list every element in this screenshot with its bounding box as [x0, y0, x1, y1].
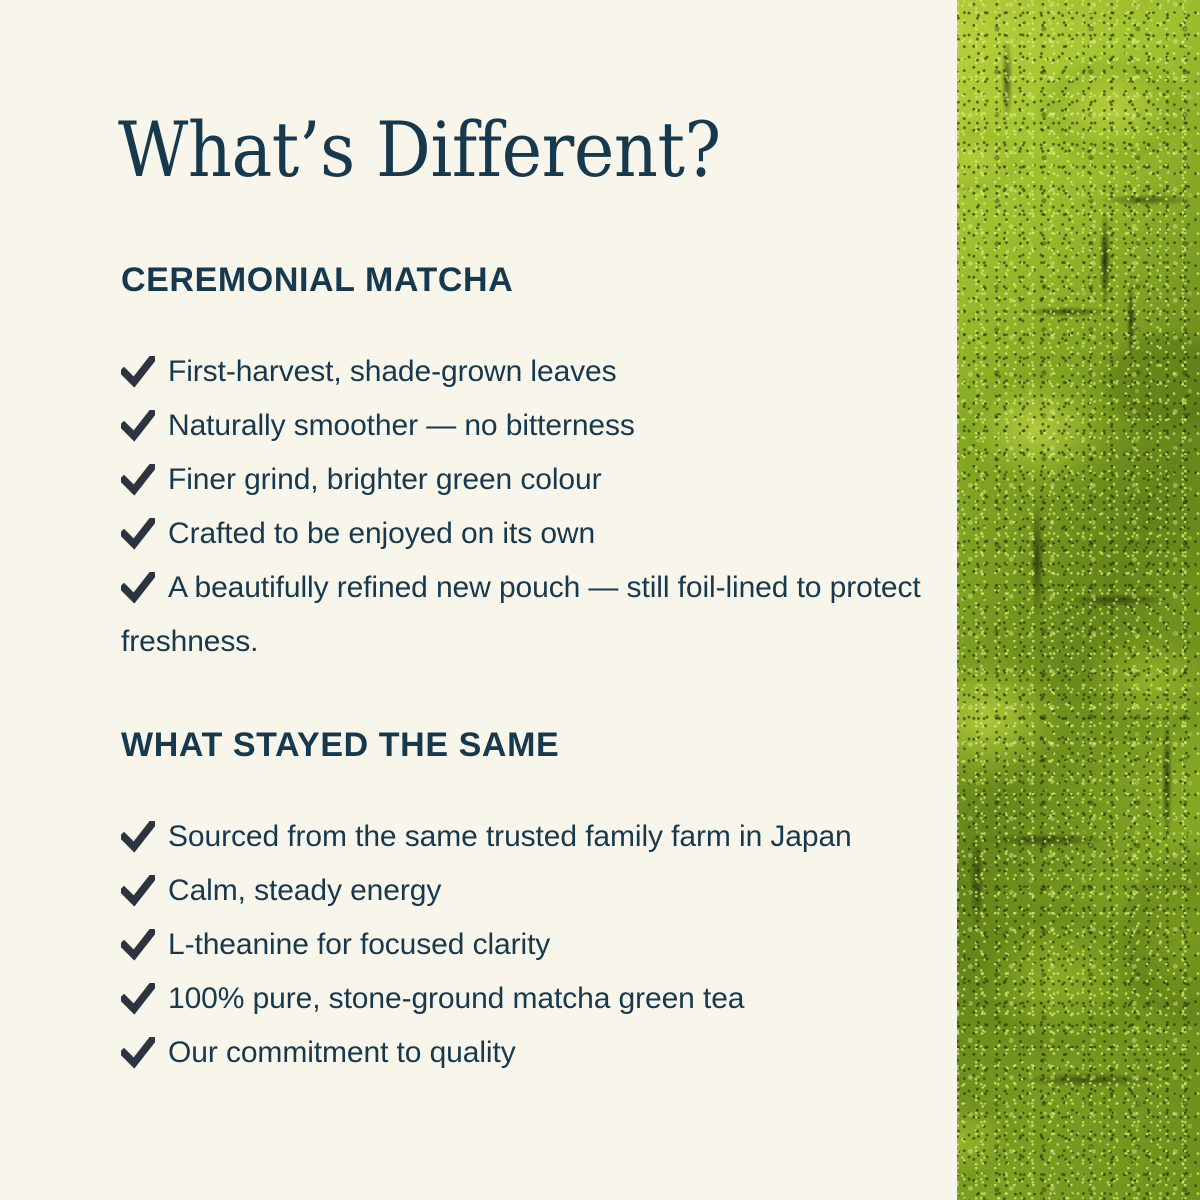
check-icon: [121, 518, 155, 550]
check-icon: [121, 410, 155, 442]
list-item-label: A beautifully refined new pouch — still …: [121, 571, 921, 658]
check-icon: [121, 356, 155, 388]
list-item: Sourced from the same trusted family far…: [121, 810, 951, 864]
page-title: What’s Different?: [118, 112, 721, 188]
list-item-label: 100% pure, stone-ground matcha green tea: [168, 982, 744, 1015]
list-item: A beautifully refined new pouch — still …: [121, 561, 951, 669]
section-ceremonial-matcha: CEREMONIAL MATCHA First-harvest, shade-g…: [121, 258, 951, 669]
check-icon: [121, 821, 155, 853]
promo-card: What’s Different? CEREMONIAL MATCHA Firs…: [0, 0, 1200, 1200]
matcha-powder-image: [957, 0, 1200, 1200]
list-item-label: First-harvest, shade-grown leaves: [168, 355, 617, 388]
content-panel: What’s Different? CEREMONIAL MATCHA Firs…: [0, 0, 957, 1200]
list-item: Crafted to be enjoyed on its own: [121, 507, 951, 561]
list-item-label: Crafted to be enjoyed on its own: [168, 517, 595, 550]
list-item: L-theanine for focused clarity: [121, 918, 951, 972]
section-what-stayed-the-same: WHAT STAYED THE SAME Sourced from the sa…: [121, 723, 951, 1080]
check-icon: [121, 572, 155, 604]
list-item: Calm, steady energy: [121, 864, 951, 918]
check-icon: [121, 464, 155, 496]
check-icon: [121, 875, 155, 907]
list-item-label: Our commitment to quality: [168, 1036, 516, 1069]
list-item-label: Naturally smoother — no bitterness: [168, 409, 635, 442]
list-item-label: Finer grind, brighter green colour: [168, 463, 602, 496]
list-item: Finer grind, brighter green colour: [121, 453, 951, 507]
benefits-list-unchanged: Sourced from the same trusted family far…: [121, 810, 951, 1080]
list-item-label: Sourced from the same trusted family far…: [168, 820, 852, 853]
section-heading-what-stayed-the-same: WHAT STAYED THE SAME: [121, 723, 951, 767]
list-item-label: Calm, steady energy: [168, 874, 441, 907]
list-item: First-harvest, shade-grown leaves: [121, 345, 951, 399]
matcha-shading-layer: [957, 0, 1200, 1200]
check-icon: [121, 929, 155, 961]
section-heading-ceremonial-matcha: CEREMONIAL MATCHA: [121, 258, 951, 302]
list-item: 100% pure, stone-ground matcha green tea: [121, 972, 951, 1026]
list-item: Our commitment to quality: [121, 1026, 951, 1080]
list-item-label: L-theanine for focused clarity: [168, 928, 550, 961]
list-item: Naturally smoother — no bitterness: [121, 399, 951, 453]
benefits-list-ceremonial: First-harvest, shade-grown leaves Natura…: [121, 345, 951, 669]
check-icon: [121, 983, 155, 1015]
check-icon: [121, 1037, 155, 1069]
